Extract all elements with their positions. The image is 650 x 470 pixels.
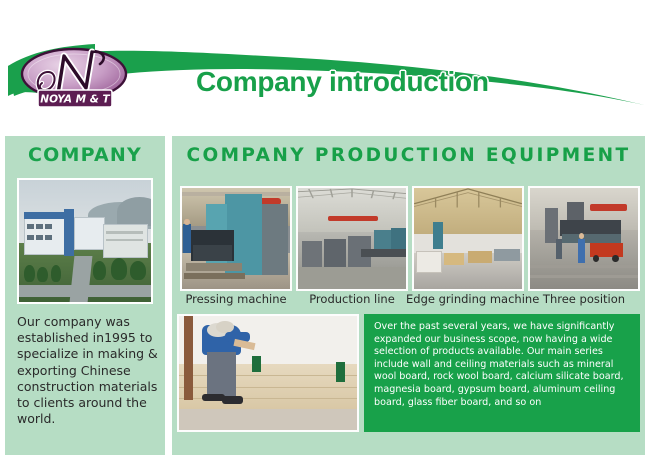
worker-photo-frame xyxy=(177,314,359,432)
production-line-photo xyxy=(298,188,406,289)
page-header: NOYA M & T Company introduction xyxy=(0,0,650,133)
equipment-item: Edge grinding machine xyxy=(412,186,524,308)
company-building-photo xyxy=(19,180,151,302)
company-panel-heading: COMPANY xyxy=(5,144,165,166)
equipment-caption: Three position xyxy=(522,292,646,306)
slide-root: NOYA M & T Company introduction COMPANY xyxy=(0,0,650,470)
equipment-caption: Production line xyxy=(290,292,414,306)
edge-grinding-machine-photo-frame xyxy=(412,186,524,291)
edge-grinding-machine-photo xyxy=(414,188,522,289)
equipment-photo-row: Pressing machine xyxy=(177,186,640,308)
pressing-machine-photo xyxy=(182,188,290,289)
page-title: Company introduction xyxy=(196,66,489,98)
logo-wordmark-text: NOYA M & T xyxy=(40,94,110,106)
company-panel: COMPANY xyxy=(5,136,165,455)
equipment-item: Three position xyxy=(528,186,640,308)
three-position-photo xyxy=(530,188,638,289)
equipment-caption: Edge grinding machine xyxy=(406,292,530,306)
pressing-machine-photo-frame xyxy=(180,186,292,291)
production-line-photo-frame xyxy=(296,186,408,291)
three-position-photo-frame xyxy=(528,186,640,291)
equipment-item: Pressing machine xyxy=(180,186,292,308)
logo-wordmark-ribbon: NOYA M & T xyxy=(38,90,112,107)
company-description-text: Our company was established in1995 to sp… xyxy=(17,314,159,427)
production-equipment-panel: COMPANY PRODUCTION EQUIPMENT xyxy=(172,136,645,455)
company-scope-text: Over the past several years, we have sig… xyxy=(374,321,630,409)
worker-installing-wall-panel-photo xyxy=(179,316,357,430)
company-building-photo-frame xyxy=(17,178,153,304)
company-scope-textbox: Over the past several years, we have sig… xyxy=(364,314,640,432)
equipment-caption: Pressing machine xyxy=(174,292,298,306)
production-equipment-heading: COMPANY PRODUCTION EQUIPMENT xyxy=(172,145,645,166)
equipment-item: Production line xyxy=(296,186,408,308)
noya-logo: NOYA M & T xyxy=(12,42,136,114)
